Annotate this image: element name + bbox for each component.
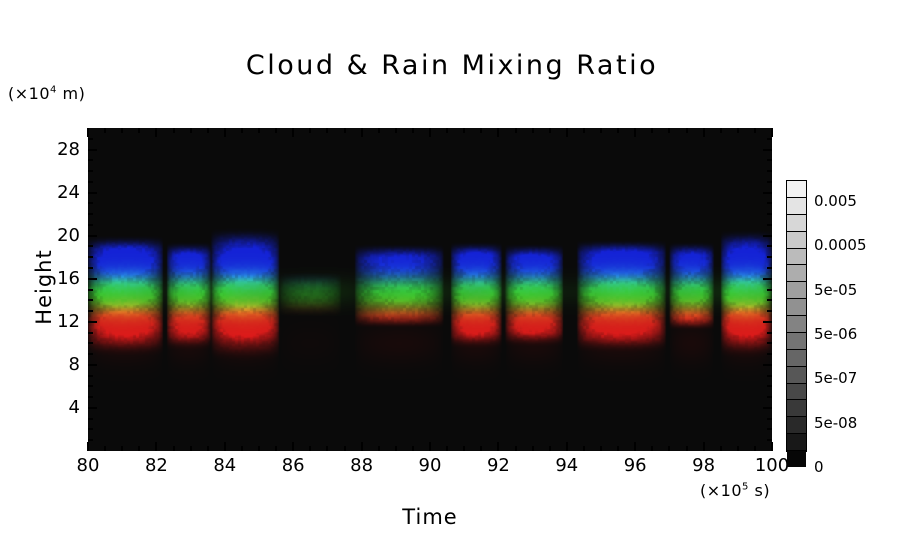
- x-minor-tick: [617, 128, 619, 133]
- x-minor-tick: [395, 128, 397, 133]
- y-tick-label: 24: [18, 182, 80, 203]
- x-minor-tick: [138, 128, 140, 133]
- y-major-tick: [88, 192, 97, 194]
- y-major-tick: [88, 364, 97, 366]
- y-minor-tick: [88, 138, 93, 140]
- y-minor-tick: [767, 138, 772, 140]
- y-major-tick: [763, 235, 772, 237]
- y-minor-tick: [767, 342, 772, 344]
- x-minor-tick: [275, 128, 277, 133]
- colorbar-segment: [787, 417, 806, 434]
- y-major-tick: [88, 149, 97, 151]
- x-major-tick: [771, 442, 773, 451]
- x-major-tick: [497, 442, 499, 451]
- y-major-tick: [763, 278, 772, 280]
- x-major-tick: [292, 442, 294, 451]
- x-major-tick: [155, 128, 157, 137]
- x-major-tick: [634, 442, 636, 451]
- x-minor-tick: [309, 446, 311, 451]
- x-minor-tick: [446, 446, 448, 451]
- y-major-tick: [88, 235, 97, 237]
- y-major-tick: [763, 192, 772, 194]
- colorbar-segment: [787, 367, 806, 384]
- y-minor-tick: [88, 310, 93, 312]
- y-minor-tick: [88, 418, 93, 420]
- x-major-tick: [703, 128, 705, 137]
- y-minor-tick: [767, 332, 772, 334]
- y-minor-tick: [767, 375, 772, 377]
- y-minor-tick: [767, 289, 772, 291]
- y-minor-tick: [88, 375, 93, 377]
- x-minor-tick: [138, 446, 140, 451]
- x-major-tick: [87, 442, 89, 451]
- y-minor-tick: [767, 396, 772, 398]
- y-minor-tick: [767, 353, 772, 355]
- x-major-tick: [634, 128, 636, 137]
- x-minor-tick: [754, 128, 756, 133]
- x-major-tick: [361, 128, 363, 137]
- x-minor-tick: [686, 128, 688, 133]
- x-minor-tick: [104, 446, 106, 451]
- y-minor-tick: [88, 342, 93, 344]
- x-axis-unit-exponent: 5: [742, 482, 749, 493]
- y-minor-tick: [767, 310, 772, 312]
- x-minor-tick: [344, 446, 346, 451]
- x-tick-label: 86: [263, 455, 323, 476]
- colorbar-segment: [787, 181, 806, 198]
- plot-area: [88, 128, 772, 451]
- heatmap-field: [88, 128, 772, 451]
- x-minor-tick: [275, 446, 277, 451]
- colorbar: [786, 180, 807, 452]
- colorbar-segment: [787, 249, 806, 266]
- colorbar-segment: [787, 282, 806, 299]
- y-minor-tick: [767, 213, 772, 215]
- x-major-tick: [566, 442, 568, 451]
- y-minor-tick: [88, 159, 93, 161]
- colorbar-tick-label: 0.005: [814, 192, 857, 210]
- x-minor-tick: [515, 446, 517, 451]
- y-axis-unit-label: (×104 m): [8, 84, 85, 103]
- x-tick-label: 80: [58, 455, 118, 476]
- y-minor-tick: [767, 299, 772, 301]
- x-minor-tick: [583, 128, 585, 133]
- x-minor-tick: [207, 446, 209, 451]
- x-tick-label: 82: [126, 455, 186, 476]
- y-minor-tick: [88, 245, 93, 247]
- y-minor-tick: [88, 385, 93, 387]
- y-tick-label: 12: [18, 311, 80, 332]
- colorbar-segment: [787, 232, 806, 249]
- x-tick-label: 98: [674, 455, 734, 476]
- y-minor-tick: [767, 181, 772, 183]
- x-minor-tick: [309, 128, 311, 133]
- y-minor-tick: [88, 256, 93, 258]
- x-major-tick: [292, 128, 294, 137]
- x-minor-tick: [326, 128, 328, 133]
- colorbar-segment: [787, 434, 806, 451]
- x-major-tick: [224, 128, 226, 137]
- y-minor-tick: [767, 428, 772, 430]
- x-major-tick: [429, 442, 431, 451]
- x-major-tick: [703, 442, 705, 451]
- y-minor-tick: [88, 224, 93, 226]
- y-major-tick: [763, 407, 772, 409]
- y-axis-unit-exponent: 4: [50, 85, 57, 96]
- x-tick-label: 96: [605, 455, 665, 476]
- x-minor-tick: [258, 446, 260, 451]
- y-minor-tick: [767, 202, 772, 204]
- colorbar-tick-label: 5e-08: [814, 414, 857, 432]
- x-major-tick: [497, 128, 499, 137]
- x-major-tick: [771, 128, 773, 137]
- y-minor-tick: [767, 256, 772, 258]
- y-major-tick: [763, 149, 772, 151]
- x-minor-tick: [395, 446, 397, 451]
- y-minor-tick: [767, 170, 772, 172]
- x-minor-tick: [258, 128, 260, 133]
- y-tick-label: 16: [18, 268, 80, 289]
- x-minor-tick: [532, 128, 534, 133]
- y-minor-tick: [88, 353, 93, 355]
- x-minor-tick: [173, 446, 175, 451]
- figure-canvas: Cloud & Rain Mixing Ratio (×104 m) (×105…: [0, 0, 904, 544]
- x-minor-tick: [326, 446, 328, 451]
- x-minor-tick: [754, 446, 756, 451]
- x-axis-unit-prefix: (×10: [700, 481, 742, 500]
- x-minor-tick: [463, 446, 465, 451]
- y-minor-tick: [767, 159, 772, 161]
- y-minor-tick: [88, 181, 93, 183]
- y-axis-unit-suffix: m): [57, 84, 85, 103]
- colorbar-segment: [787, 215, 806, 232]
- x-axis-unit-suffix: s): [749, 481, 770, 500]
- x-minor-tick: [651, 446, 653, 451]
- x-minor-tick: [412, 446, 414, 451]
- x-tick-label: 90: [400, 455, 460, 476]
- x-minor-tick: [600, 128, 602, 133]
- colorbar-tick-label: 5e-07: [814, 369, 857, 387]
- x-axis-title: Time: [0, 505, 860, 529]
- y-minor-tick: [88, 202, 93, 204]
- y-minor-tick: [767, 418, 772, 420]
- colorbar-tick-label: 5e-06: [814, 325, 857, 343]
- x-minor-tick: [344, 128, 346, 133]
- x-minor-tick: [446, 128, 448, 133]
- colorbar-segment: [787, 299, 806, 316]
- y-minor-tick: [88, 267, 93, 269]
- colorbar-segment: [787, 265, 806, 282]
- x-minor-tick: [668, 446, 670, 451]
- y-tick-label: 4: [18, 397, 80, 418]
- y-major-tick: [763, 321, 772, 323]
- x-minor-tick: [241, 128, 243, 133]
- x-minor-tick: [720, 446, 722, 451]
- x-tick-label: 92: [468, 455, 528, 476]
- y-minor-tick: [88, 428, 93, 430]
- y-minor-tick: [88, 299, 93, 301]
- x-minor-tick: [173, 128, 175, 133]
- x-minor-tick: [480, 128, 482, 133]
- x-minor-tick: [583, 446, 585, 451]
- colorbar-segment: [787, 198, 806, 215]
- x-minor-tick: [412, 128, 414, 133]
- x-tick-label: 84: [195, 455, 255, 476]
- colorbar-tick-label: 5e-05: [814, 281, 857, 299]
- x-major-tick: [87, 128, 89, 137]
- x-minor-tick: [190, 128, 192, 133]
- x-minor-tick: [532, 446, 534, 451]
- y-major-tick: [88, 407, 97, 409]
- x-minor-tick: [720, 128, 722, 133]
- y-minor-tick: [88, 213, 93, 215]
- y-minor-tick: [767, 385, 772, 387]
- x-minor-tick: [207, 128, 209, 133]
- y-major-tick: [763, 364, 772, 366]
- y-minor-tick: [88, 332, 93, 334]
- x-major-tick: [155, 442, 157, 451]
- x-major-tick: [429, 128, 431, 137]
- y-minor-tick: [88, 396, 93, 398]
- y-axis-unit-prefix: (×10: [8, 84, 50, 103]
- x-minor-tick: [668, 128, 670, 133]
- page-title: Cloud & Rain Mixing Ratio: [0, 50, 904, 81]
- x-minor-tick: [121, 128, 123, 133]
- x-major-tick: [224, 442, 226, 451]
- y-major-tick: [88, 321, 97, 323]
- y-minor-tick: [88, 170, 93, 172]
- y-tick-label: 20: [18, 225, 80, 246]
- x-minor-tick: [104, 128, 106, 133]
- x-minor-tick: [515, 128, 517, 133]
- x-minor-tick: [378, 446, 380, 451]
- y-minor-tick: [767, 224, 772, 226]
- x-minor-tick: [480, 446, 482, 451]
- colorbar-segment: [787, 316, 806, 333]
- colorbar-segment: [787, 384, 806, 401]
- y-major-tick: [88, 278, 97, 280]
- y-minor-tick: [88, 439, 93, 441]
- colorbar-segment: [787, 350, 806, 367]
- x-minor-tick: [600, 446, 602, 451]
- x-minor-tick: [651, 128, 653, 133]
- colorbar-segment: [787, 400, 806, 417]
- colorbar-segment: [787, 451, 806, 467]
- x-axis-unit-label: (×105 s): [700, 481, 770, 500]
- y-minor-tick: [767, 267, 772, 269]
- x-minor-tick: [549, 446, 551, 451]
- colorbar-tick-label: 0.0005: [814, 236, 867, 254]
- x-minor-tick: [378, 128, 380, 133]
- colorbar-tick-label: 0: [814, 458, 824, 476]
- x-minor-tick: [463, 128, 465, 133]
- x-minor-tick: [617, 446, 619, 451]
- x-minor-tick: [121, 446, 123, 451]
- x-minor-tick: [549, 128, 551, 133]
- x-minor-tick: [190, 446, 192, 451]
- x-tick-label: 94: [537, 455, 597, 476]
- y-minor-tick: [767, 439, 772, 441]
- x-minor-tick: [737, 128, 739, 133]
- x-minor-tick: [686, 446, 688, 451]
- x-major-tick: [361, 442, 363, 451]
- x-minor-tick: [737, 446, 739, 451]
- y-minor-tick: [767, 245, 772, 247]
- x-major-tick: [566, 128, 568, 137]
- colorbar-segment: [787, 333, 806, 350]
- y-minor-tick: [88, 289, 93, 291]
- x-minor-tick: [241, 446, 243, 451]
- y-tick-label: 8: [18, 354, 80, 375]
- x-tick-label: 88: [332, 455, 392, 476]
- y-tick-label: 28: [18, 139, 80, 160]
